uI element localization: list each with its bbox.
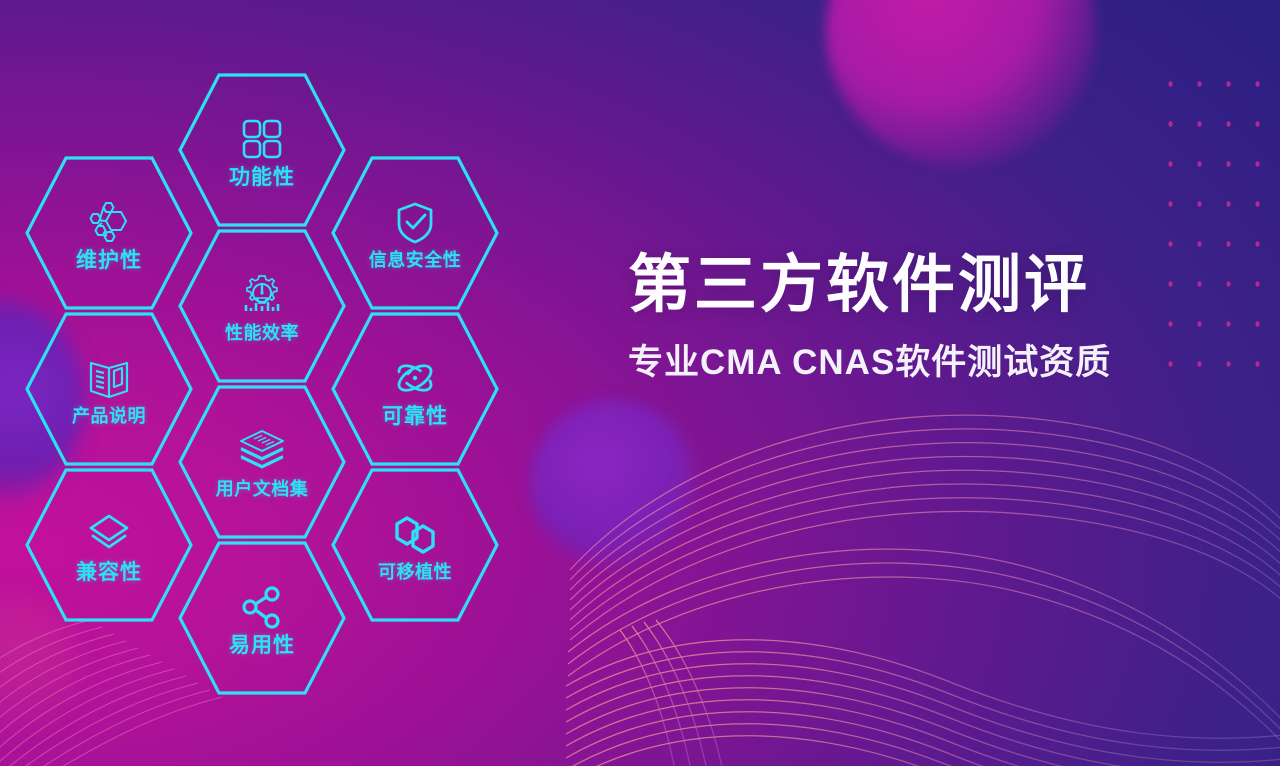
hexagon-grid: 维护性 功能性 xyxy=(0,0,540,766)
page-subtitle: 专业CMA CNAS软件测试资质 xyxy=(628,344,1168,383)
wave-lines-right xyxy=(560,330,1280,766)
hex-label: 性能效率 xyxy=(225,324,299,342)
linked-hexagons-icon xyxy=(389,509,441,561)
page-title: 第三方软件测评 xyxy=(628,252,1168,318)
hex-functionality[interactable]: 功能性 xyxy=(177,72,347,228)
molecule-hexagons-icon xyxy=(83,196,135,248)
blob-center xyxy=(530,400,696,566)
hex-compatibility[interactable]: 兼容性 xyxy=(24,467,194,623)
open-book-icon xyxy=(83,353,135,405)
hex-maintainability[interactable]: 维护性 xyxy=(24,155,194,311)
four-squares-grid-icon xyxy=(236,113,288,165)
shield-check-icon xyxy=(389,197,441,249)
dot-grid-pattern xyxy=(1152,60,1280,380)
hex-user-docs[interactable]: 用户文档集 xyxy=(177,384,347,540)
atom-orbit-icon xyxy=(389,352,441,404)
blob-top-right xyxy=(826,0,1096,166)
hex-portability[interactable]: 可移植性 xyxy=(330,467,500,623)
hex-label: 兼容性 xyxy=(76,562,142,583)
hex-performance[interactable]: 性能效率 xyxy=(177,228,347,384)
hex-label: 易用性 xyxy=(229,635,295,656)
hex-label: 维护性 xyxy=(76,250,142,271)
share-nodes-icon xyxy=(236,581,288,633)
banner-root: 维护性 功能性 xyxy=(0,0,1280,766)
hex-label: 信息安全性 xyxy=(369,251,462,269)
gear-gauge-chart-icon xyxy=(236,270,288,322)
hex-usability[interactable]: 易用性 xyxy=(177,540,347,696)
layers-icon xyxy=(83,508,135,560)
hex-product-doc[interactable]: 产品说明 xyxy=(24,311,194,467)
hex-security[interactable]: 信息安全性 xyxy=(330,155,500,311)
hex-label: 产品说明 xyxy=(72,407,146,425)
headline-block: 第三方软件测评 专业CMA CNAS软件测试资质 xyxy=(628,252,1168,383)
hex-label: 用户文档集 xyxy=(216,480,309,498)
hex-label: 可移植性 xyxy=(378,563,452,581)
stacked-sheets-icon xyxy=(236,426,288,478)
hex-label: 可靠性 xyxy=(382,406,448,427)
hex-label: 功能性 xyxy=(229,167,295,188)
hex-reliability[interactable]: 可靠性 xyxy=(330,311,500,467)
